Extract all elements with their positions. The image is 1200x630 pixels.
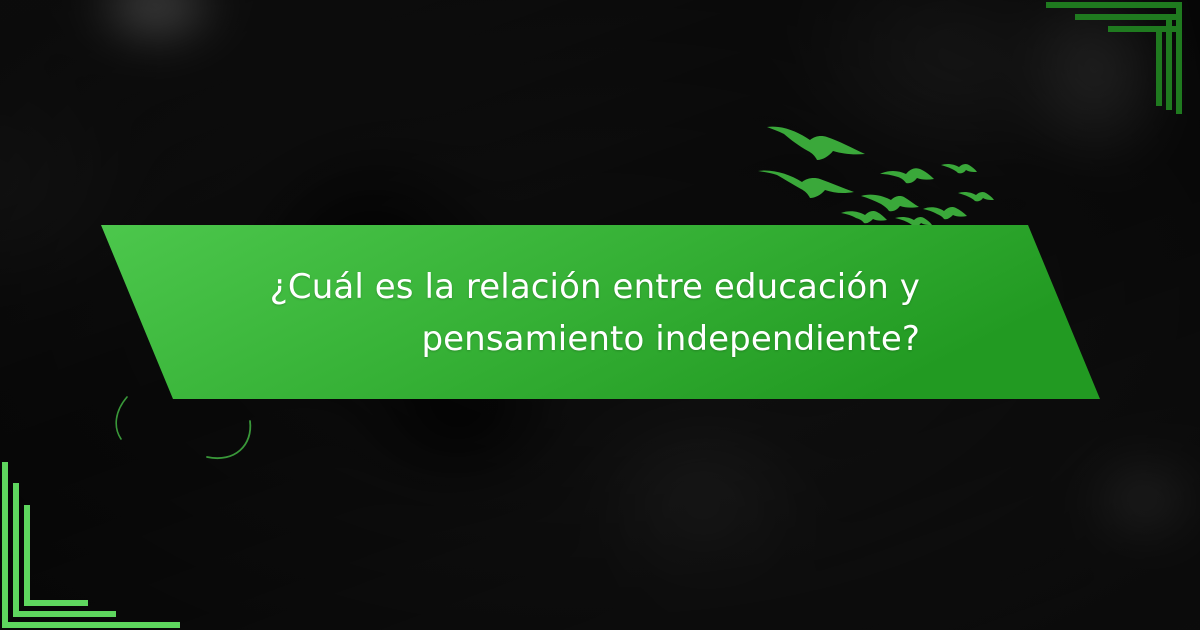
headline-text: ¿Cuál es la relación entre educación y p… — [180, 225, 920, 400]
headline-line-1: ¿Cuál es la relación entre educación y — [270, 261, 920, 313]
headline-line-2: pensamiento independiente? — [421, 313, 920, 365]
social-card: ¿Cuál es la relación entre educación y p… — [0, 0, 1200, 630]
